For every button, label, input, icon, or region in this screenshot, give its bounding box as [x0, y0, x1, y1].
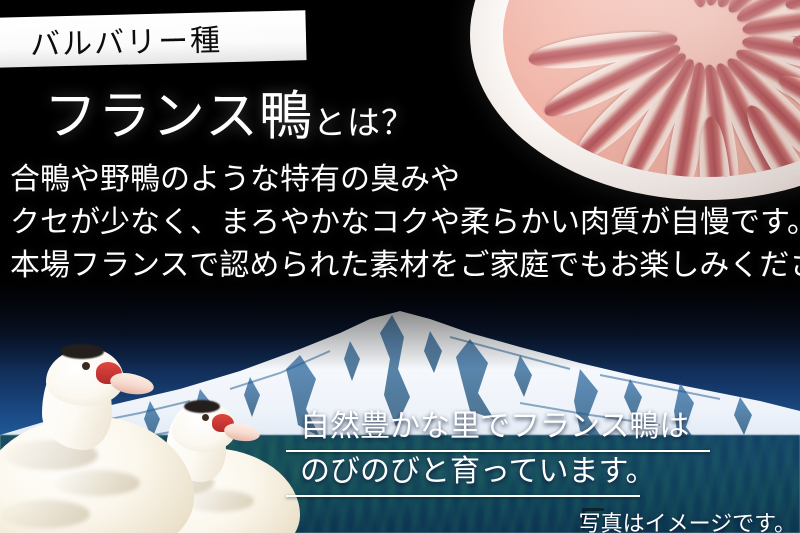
- tagline-block: 自然豊かな里でフランス鴨は のびのびと育っています。: [286, 404, 800, 494]
- tagline-underline-2: [286, 495, 640, 497]
- description-block: 合鴨や野鴨のような特有の臭みや クセが少なく、まろやかなコクや柔らかい肉質が自慢…: [10, 158, 800, 287]
- title-main: フランス鴨: [44, 88, 313, 146]
- promo-banner-image: バルバリー種 フランス鴨とは？ 合鴨や野鴨のような特有の臭みや クセが少なく、ま…: [0, 0, 800, 533]
- description-line: 合鴨や野鴨のような特有の臭みや: [10, 158, 800, 201]
- tagline-line: のびのびと育っています。: [286, 449, 800, 494]
- description-line: 本場フランスで認められた素材をご家庭でもお楽しみください。: [10, 244, 800, 287]
- breed-label: バルバリー種: [29, 15, 222, 64]
- image-disclaimer: 写真はイメージです。: [579, 506, 796, 533]
- tagline-line: 自然豊かな里でフランス鴨は: [286, 404, 800, 449]
- breed-ribbon: バルバリー種: [0, 10, 307, 68]
- tagline-underline-1: [286, 450, 710, 452]
- page-title: フランス鴨とは？: [44, 74, 415, 150]
- title-suffix: とは？: [313, 106, 415, 142]
- ducks-photo: [0, 330, 314, 533]
- description-line: クセが少なく、まろやかなコクや柔らかい肉質が自慢です。: [10, 201, 800, 244]
